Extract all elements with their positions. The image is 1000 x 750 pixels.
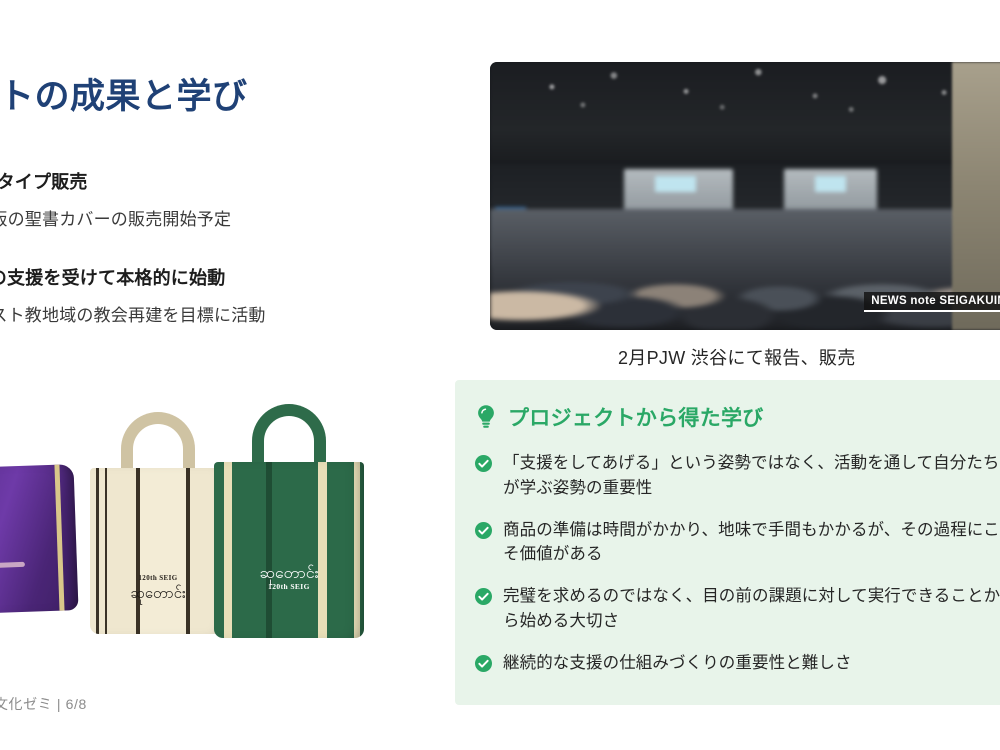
check-circle-icon [475,588,492,605]
check-circle-icon [475,522,492,539]
purple-bag-photo [0,464,79,614]
lightbulb-icon [475,404,497,430]
tote-body: 120th SEIG ဆုတောင်း [90,468,226,634]
photo-pillar [952,62,1000,330]
list-item-text: 「支援をしてあげる」という姿勢ではなく、活動を通して自分たちが学ぶ姿勢の重要性 [503,451,1000,501]
list-item: 完璧を求めるのではなく、目の前の課題に対して実行できることから始める大切さ [475,584,1000,634]
list-item-text: 商品の準備は時間がかかり、地味で手間もかかるが、その過程にこそ価値がある [503,518,1000,568]
learnings-panel: プロジェクトから得た学び 「支援をしてあげる」という姿勢ではなく、活動を通して自… [455,380,1000,705]
photo-screen-glow-right [815,176,846,192]
slide-footer: 教・文化ゼミ | 6/8 [0,694,87,714]
tote-handle [252,404,326,462]
list-item-text: 完璧を求めるのではなく、目の前の課題に対して実行できることから始める大切さ [503,584,1000,634]
photo-screen-glow-left [655,176,696,192]
bag-print-burmese: ဆုတောင်း [130,584,186,606]
check-circle-icon [475,455,492,472]
list-item: 継続的な支援の仕組みづくりの重要性と難しさ [475,651,1000,676]
left-section-prototype: プロトタイプ販売 改良版の聖書カバーの販売開始予定 [0,168,372,230]
event-hall-photo: NEWS note SEIGAKUIN [490,62,1000,330]
section-detail: 改良版の聖書カバーの販売開始予定 [0,205,372,230]
presentation-slide: ェクトの成果と学び プロトタイプ販売 改良版の聖書カバーの販売開始予定 JELA… [0,0,1000,750]
bag-print-seig: 120th SEIG [138,574,177,582]
photo-ceiling-lights [490,62,1000,175]
tote-body: ဆုတောင်း 120th SEIG [214,462,364,638]
section-heading: JELAの支援を受けて本格的に始動 [0,264,372,290]
list-item: 商品の準備は時間がかかり、地味で手間もかかるが、その過程にこそ価値がある [475,518,1000,568]
product-photo-group: 120th SEIG ဆုတောင်း ဆုတောင်း 120th SEIG [0,398,384,660]
list-item: 「支援をしてあげる」という姿勢ではなく、活動を通して自分たちが学ぶ姿勢の重要性 [475,451,1000,501]
photo-watermark: NEWS note SEIGAKUIN [864,292,1000,312]
page-title: ェクトの成果と学び [0,68,388,119]
list-item-text: 継続的な支援の仕組みづくりの重要性と難しさ [503,651,1000,676]
photo-caption: 2月PJW 渋谷にて報告、販売 [618,344,1000,370]
cream-striped-tote-photo: 120th SEIG ဆုတောင်း [90,412,226,634]
section-heading: プロトタイプ販売 [0,168,372,194]
check-circle-icon [475,655,492,672]
section-detail: キリスト教地域の教会再建を目標に活動 [0,301,372,326]
bag-print-seig: 120th SEIG [268,582,310,591]
green-striped-tote-photo: ဆုတောင်း 120th SEIG [214,404,364,638]
left-section-jela: JELAの支援を受けて本格的に始動 キリスト教地域の教会再建を目標に活動 [0,264,372,326]
learnings-header: プロジェクトから得た学び [475,402,1000,432]
learnings-title: プロジェクトから得た学び [508,402,764,432]
tote-handle [121,412,195,470]
